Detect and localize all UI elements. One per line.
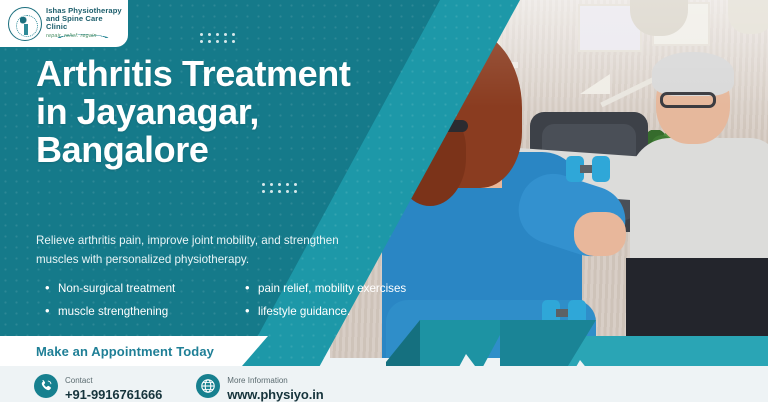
contact-phone[interactable]: Contact +91-9916761666 (34, 370, 162, 402)
physiotherapy-seal-icon (8, 7, 42, 41)
phone-icon (34, 374, 58, 398)
list-item: lifestyle guidance. (244, 304, 434, 319)
contact-phone-value: +91-9916761666 (65, 388, 162, 402)
list-item: Non-surgical treatment (44, 281, 244, 296)
brand-logo[interactable]: Ishas Physiotherapy and Spine Care Clini… (0, 0, 128, 47)
appointment-cta-label: Make an Appointment Today (0, 344, 214, 359)
dot-decoration (200, 33, 235, 43)
hero-description: Relieve arthritis pain, improve joint mo… (36, 232, 366, 270)
contact-phone-label: Contact (65, 376, 93, 385)
contact-website-label: More Information (227, 376, 287, 385)
contact-bar: Contact +91-9916761666 More Information … (34, 370, 324, 402)
therapy-figure-icon (20, 17, 32, 35)
contact-website-value: www.physiyo.in (227, 388, 323, 402)
footer-mask (360, 366, 426, 402)
list-item: pain relief, mobility exercises (244, 281, 434, 296)
dot-decoration (262, 183, 297, 193)
list-item: muscle strengthening (44, 304, 244, 319)
globe-icon (196, 374, 220, 398)
contact-phone-text: Contact +91-9916761666 (65, 370, 162, 402)
page-title: Arthritis Treatment in Jayanagar, Bangal… (36, 55, 366, 169)
brand-tagline: repair. relief. regain (46, 34, 122, 40)
brand-line-2: and Spine Care Clinic (46, 15, 122, 31)
feature-list: Non-surgical treatment pain relief, mobi… (44, 281, 434, 319)
footer-mask (600, 366, 768, 402)
appointment-banner[interactable]: Make an Appointment Today (0, 336, 268, 366)
contact-website-text: More Information www.physiyo.in (227, 370, 323, 402)
contact-website[interactable]: More Information www.physiyo.in (196, 370, 323, 402)
brand-name: Ishas Physiotherapy and Spine Care Clini… (46, 7, 122, 40)
promo-banner: Ishas Physiotherapy and Spine Care Clini… (0, 0, 768, 402)
